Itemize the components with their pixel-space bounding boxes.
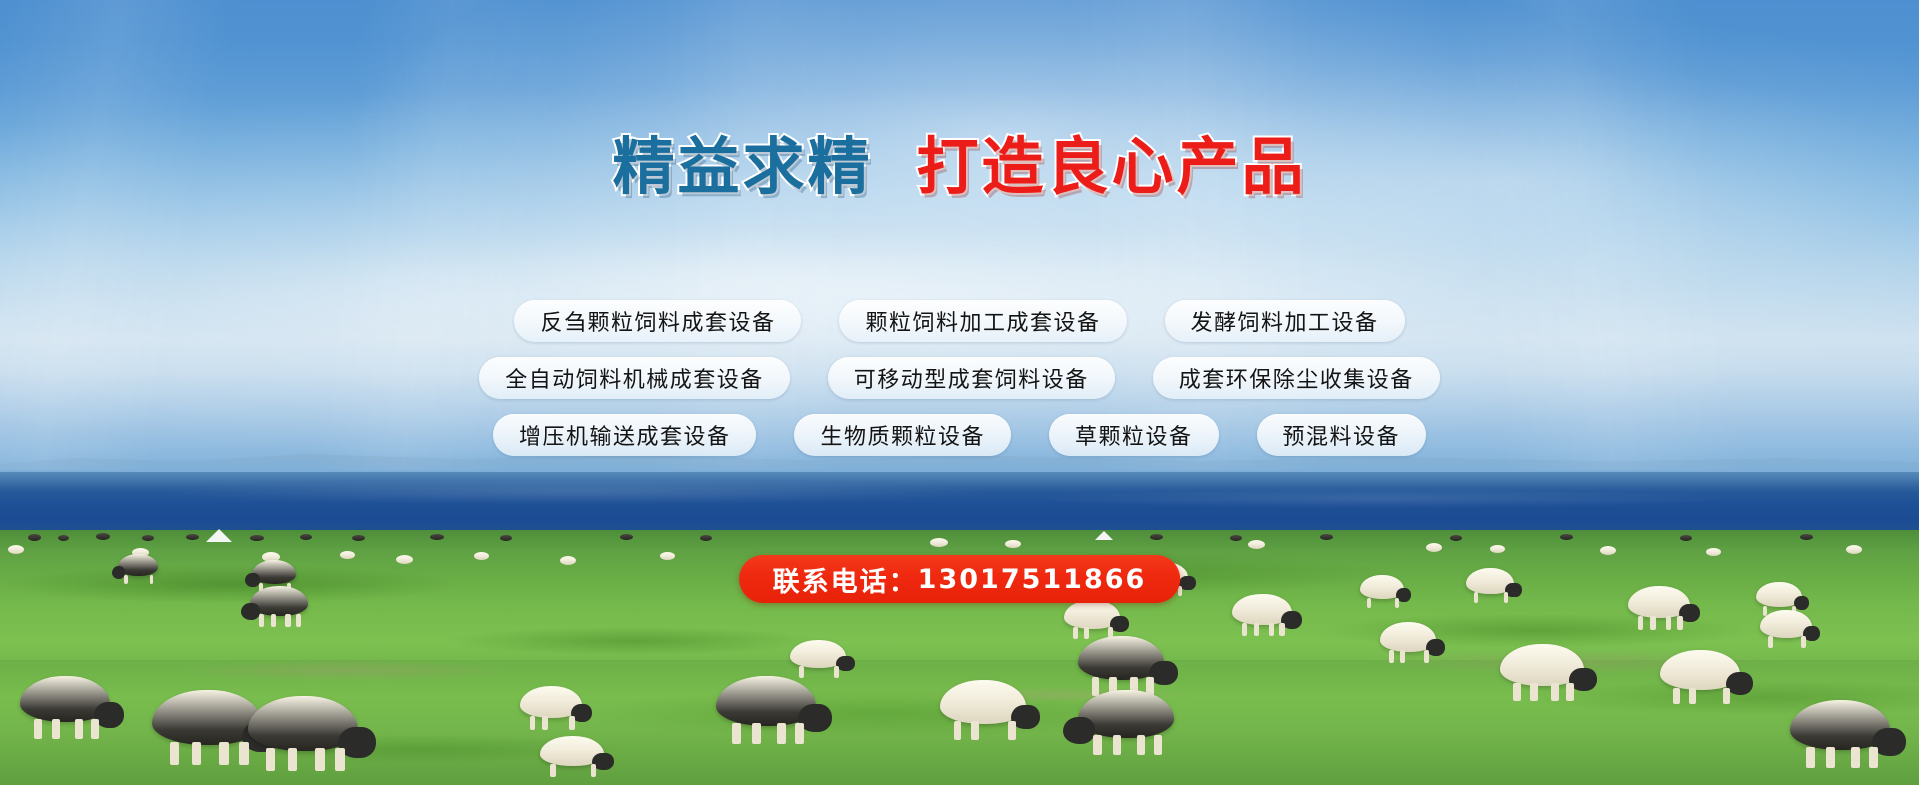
sheep-leg	[777, 723, 786, 744]
sheep	[352, 535, 365, 541]
sheep-leg	[1400, 650, 1405, 663]
sheep-leg	[1389, 650, 1394, 663]
sheep-leg	[1869, 747, 1878, 768]
sheep-leg	[1801, 636, 1806, 648]
sheep	[1790, 700, 1890, 750]
sheep	[1800, 534, 1813, 540]
sheep	[1360, 575, 1404, 599]
sheep-leg	[1269, 623, 1274, 636]
sheep-leg	[1395, 598, 1399, 608]
sheep-leg	[1424, 650, 1429, 663]
sheep	[250, 586, 308, 616]
sheep-leg	[530, 716, 536, 729]
sheep-leg	[1638, 616, 1644, 629]
sheep-leg	[971, 721, 979, 739]
sheep-leg	[1826, 747, 1835, 768]
sheep	[930, 538, 948, 547]
product-pill-ruminant-pellet-feed-complete-equipment[interactable]: 反刍颗粒饲料成套设备	[514, 300, 801, 342]
sheep	[660, 552, 675, 560]
sheep-leg	[1504, 592, 1508, 603]
sheep-leg	[550, 764, 556, 777]
sheep	[500, 535, 512, 541]
sheep	[1680, 535, 1692, 541]
sheep-leg	[799, 666, 804, 678]
sheep	[96, 533, 110, 540]
sheep	[1560, 534, 1573, 540]
sheep	[1005, 540, 1021, 548]
sheep-leg	[335, 748, 345, 771]
sheep	[1846, 545, 1862, 554]
sheep-leg	[1242, 623, 1247, 636]
sheep	[474, 552, 489, 560]
headline-secondary: 打造良心产品	[917, 136, 1307, 198]
sheep-leg	[1666, 616, 1672, 629]
sheep-leg	[1093, 735, 1102, 755]
product-pill-mobile-complete-feed-equipment[interactable]: 可移动型成套饲料设备	[828, 357, 1115, 399]
product-pill-biomass-pellet-equipment[interactable]: 生物质颗粒设备	[794, 414, 1011, 456]
sheep-leg	[1806, 747, 1815, 768]
sheep	[1706, 548, 1721, 556]
sheep-leg	[1367, 598, 1371, 608]
sheep	[142, 535, 154, 541]
sheep	[1756, 582, 1802, 607]
sheep-leg	[239, 742, 249, 765]
sheep-leg	[795, 723, 804, 744]
sheep-leg	[1008, 721, 1016, 739]
sheep-leg	[124, 575, 128, 584]
headline-primary: 精益求精	[612, 136, 872, 198]
sheep-leg	[75, 719, 83, 738]
sheep-head	[112, 566, 126, 578]
sheep	[1450, 535, 1462, 541]
sheep-leg	[1474, 592, 1478, 603]
hero-banner: 精益求精打造良心产品 反刍颗粒饲料成套设备 颗粒饲料加工成套设备 发酵饲料加工设…	[0, 0, 1919, 785]
sheep-leg	[150, 575, 154, 584]
sheep-leg	[296, 614, 301, 627]
sheep-leg	[266, 748, 276, 771]
sheep	[1628, 586, 1690, 618]
sheep	[560, 556, 576, 565]
sheep	[118, 554, 158, 576]
sheep-leg	[1673, 688, 1680, 705]
product-row-3: 增压机输送成套设备 生物质颗粒设备 草颗粒设备 预混料设备	[0, 414, 1919, 456]
product-pill-pellet-feed-processing-complete-equipment[interactable]: 颗粒饲料加工成套设备	[839, 300, 1126, 342]
sheep-leg	[1851, 747, 1860, 768]
product-category-list: 反刍颗粒饲料成套设备 颗粒饲料加工成套设备 发酵饲料加工设备 全自动饲料机械成套…	[0, 300, 1919, 471]
sheep-leg	[315, 748, 325, 771]
sheep	[152, 690, 262, 745]
product-pill-automatic-feed-machinery-complete-equipment[interactable]: 全自动饲料机械成套设备	[479, 357, 790, 399]
sheep	[1078, 690, 1174, 738]
sheep	[248, 696, 358, 751]
sheep-leg	[34, 719, 42, 738]
sheep-leg	[1084, 627, 1089, 639]
sheep-leg	[91, 719, 99, 738]
sheep	[1466, 568, 1514, 594]
sheep-leg	[1677, 616, 1683, 629]
sheep	[300, 534, 312, 540]
sheep	[252, 560, 296, 584]
sheep	[1500, 644, 1584, 686]
sheep	[1078, 636, 1164, 680]
sheep-leg	[542, 716, 548, 729]
sheep-leg	[285, 614, 290, 627]
product-pill-fermented-feed-processing-equipment[interactable]: 发酵饲料加工设备	[1165, 300, 1405, 342]
sheep-leg	[1689, 688, 1696, 705]
sheep-leg	[834, 666, 839, 678]
sheep	[186, 534, 199, 540]
sheep	[1248, 540, 1265, 549]
sheep	[1320, 534, 1333, 540]
sheep-leg	[259, 614, 264, 627]
sheep	[940, 680, 1026, 724]
sheep-leg	[1254, 623, 1259, 636]
sheep	[28, 534, 41, 541]
sheep-leg	[1530, 683, 1538, 701]
sheep-leg	[1113, 735, 1122, 755]
sheep-leg	[52, 719, 60, 738]
sheep-leg	[1092, 677, 1100, 695]
sheep-leg	[1650, 616, 1656, 629]
sheep-leg	[732, 723, 741, 744]
sheep-leg	[288, 748, 298, 771]
sheep-leg	[954, 721, 962, 739]
page-title: 精益求精打造良心产品	[0, 132, 1919, 198]
sheep	[1426, 543, 1442, 552]
sheep	[8, 545, 24, 554]
sheep	[700, 535, 712, 541]
sheep-leg	[271, 614, 276, 627]
sheep	[1064, 600, 1120, 629]
sheep	[1490, 545, 1505, 553]
sheep	[1600, 546, 1616, 555]
sheep-leg	[219, 742, 229, 765]
sheep	[1660, 650, 1740, 690]
sheep-leg	[170, 742, 180, 765]
sheep-leg	[192, 742, 202, 765]
sheep-leg	[1566, 683, 1574, 701]
sheep-head	[241, 603, 261, 620]
product-row-1: 反刍颗粒饲料成套设备 颗粒饲料加工成套设备 发酵饲料加工设备	[0, 300, 1919, 342]
sheep	[58, 535, 69, 541]
sheep	[790, 640, 846, 668]
sheep	[340, 551, 355, 559]
sheep-leg	[752, 723, 761, 744]
sheep-leg	[1768, 636, 1773, 648]
sheep	[430, 534, 444, 540]
sheep-leg	[569, 716, 575, 729]
product-pill-environmental-dust-collection-equipment[interactable]: 成套环保除尘收集设备	[1153, 357, 1440, 399]
sheep-head	[1794, 596, 1810, 610]
sheep-leg	[1154, 735, 1163, 755]
sheep	[620, 534, 633, 540]
sheep	[1232, 594, 1292, 625]
sheep	[520, 686, 582, 718]
sheep	[20, 676, 110, 722]
sheep	[396, 555, 413, 564]
sheep	[1380, 622, 1436, 652]
sheep-leg	[1137, 735, 1146, 755]
sheep-head	[1063, 717, 1096, 744]
sheep	[250, 535, 264, 541]
sheep-leg	[1279, 623, 1284, 636]
product-pill-grass-pellet-equipment[interactable]: 草颗粒设备	[1049, 414, 1219, 456]
sheep-leg	[1513, 683, 1521, 701]
sheep-leg	[1723, 688, 1730, 705]
sheep	[540, 736, 604, 766]
sheep	[1150, 534, 1163, 540]
sheep-head	[245, 573, 260, 586]
contact-phone-label: 联系电话：	[773, 560, 918, 599]
sheep	[1230, 535, 1242, 541]
sheep	[1760, 610, 1812, 638]
sheep-leg	[1073, 627, 1078, 639]
sheep	[716, 676, 816, 726]
product-row-2: 全自动饲料机械成套设备 可移动型成套饲料设备 成套环保除尘收集设备	[0, 357, 1919, 399]
contact-phone-number: 13017511866	[918, 564, 1147, 595]
product-pill-booster-conveying-complete-equipment[interactable]: 增压机输送成套设备	[493, 414, 757, 456]
product-pill-premix-equipment[interactable]: 预混料设备	[1257, 414, 1427, 456]
contact-phone-banner[interactable]: 联系电话：13017511866	[739, 555, 1181, 603]
sheep-leg	[1551, 683, 1559, 701]
sheep-leg	[591, 764, 597, 777]
